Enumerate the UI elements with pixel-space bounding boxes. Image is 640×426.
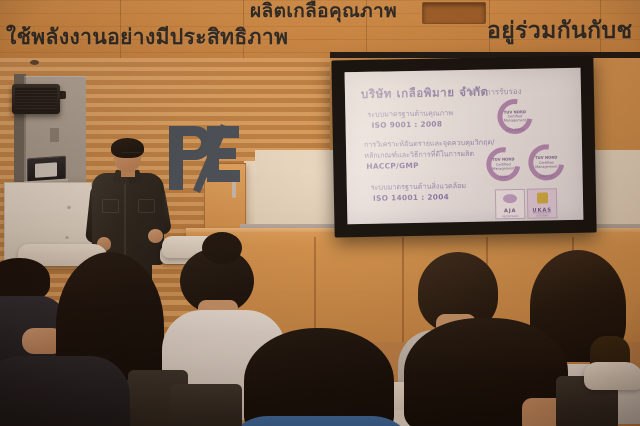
banner-text-line-3: อยู่ร่วมกันกับช (487, 13, 633, 49)
slide-subtitle: ได้รับการรับรอง (467, 85, 522, 99)
projection-screen: บริษัท เกลือพิมาย จำกัด ได้รับการรับรอง … (331, 56, 596, 238)
slide-block-1-code: ISO 9001 : 2008 (371, 119, 442, 129)
presenter-right-hand (148, 229, 163, 243)
ukas-sub: MANAGEMENT SYSTEMS (528, 211, 556, 218)
cert-1-code: ISO 9001 (498, 128, 533, 133)
ceiling-speaker-icon (12, 84, 60, 114)
cert-2-line2: Management (492, 166, 514, 170)
accreditation-logo-aja: AJA REGISTRARS (495, 189, 526, 220)
cert-3-line2: Management (535, 165, 557, 169)
banner-text-line-2: ใช้พลังงานอย่างมีประสิทธิภาพ (6, 21, 288, 54)
tablet-desk (584, 362, 640, 390)
shirt-placket (124, 177, 126, 261)
certification-mark-haccp: TUV NORD Certified Management HACCP (528, 144, 565, 181)
cert-1-line2: Management (504, 119, 526, 123)
audience-group (0, 250, 640, 426)
slide-block-3-thai: ระบบมาตรฐานด้านสิ่งแวดล้อม (371, 181, 467, 194)
cert-3-code: HACCP (529, 174, 565, 179)
lecture-hall-photo: ผลิตเกลือคุณภาพ ใช้พลังงานอย่างมีประสิทธ… (0, 0, 640, 426)
certification-mark-iso9001: TUV NORD Certified Management ISO 9001 (497, 99, 533, 135)
cert-2-code: GMP (487, 175, 521, 180)
glasses-icon (121, 152, 142, 158)
aja-sub: REGISTRARS (496, 215, 524, 219)
slide-block-2-code: HACCP/GMP (366, 161, 419, 171)
certification-mark-gmp: TUV NORD Certified Management GMP (486, 147, 521, 182)
slide-surface: บริษัท เกลือพิมาย จำกัด ได้รับการรับรอง … (345, 68, 584, 225)
wall-vent-panel (422, 2, 486, 24)
slide-block-2-thai-2: หลักเกณฑ์และวิธีการที่ดีในการผลิต (364, 149, 474, 162)
door-plate-icon (50, 128, 59, 142)
aja-label: AJA (496, 208, 524, 215)
ceiling-fixture-icon (30, 60, 39, 65)
accreditation-logo-ukas: UKAS MANAGEMENT SYSTEMS (527, 188, 558, 219)
slide-block-3-code: ISO 14001 : 2004 (373, 192, 449, 202)
